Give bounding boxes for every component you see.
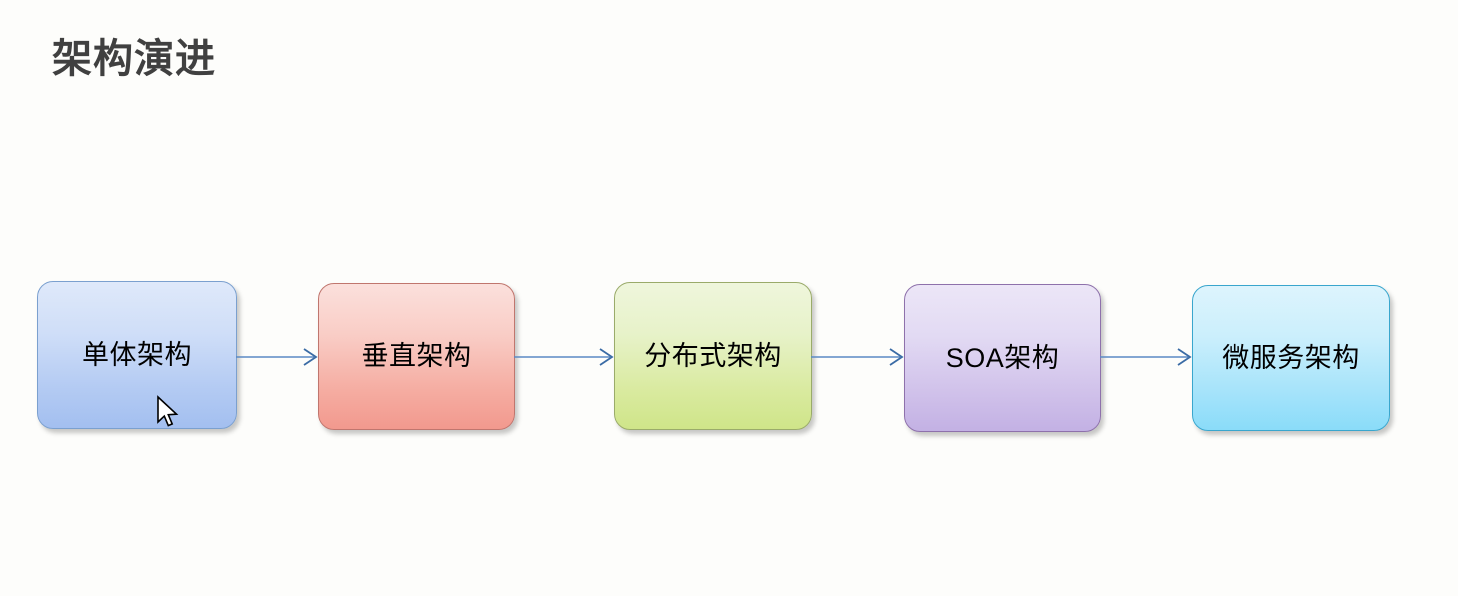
flow-box-monolithic[interactable]: 单体架构 (37, 281, 237, 429)
arrow-connector-icon (514, 344, 616, 370)
slide-canvas: 架构演进 单体架构 垂直架构 分布式架构 SOA架构 微服务架构 (0, 0, 1458, 596)
flow-box-distributed[interactable]: 分布式架构 (614, 282, 812, 430)
arrow-connector-icon (1100, 344, 1194, 370)
page-title: 架构演进 (52, 36, 216, 82)
flow-box-vertical[interactable]: 垂直架构 (318, 283, 515, 430)
flow-box-label: 垂直架构 (362, 343, 472, 370)
flow-box-label: 微服务架构 (1222, 345, 1360, 372)
flow-box-label: SOA架构 (946, 345, 1060, 372)
flow-box-label: 分布式架构 (644, 343, 782, 370)
arrow-connector-icon (236, 344, 320, 370)
flow-box-label: 单体架构 (82, 342, 192, 369)
arrow-connector-icon (811, 344, 906, 370)
flow-box-soa[interactable]: SOA架构 (904, 284, 1101, 432)
flow-box-microservices[interactable]: 微服务架构 (1192, 285, 1390, 431)
